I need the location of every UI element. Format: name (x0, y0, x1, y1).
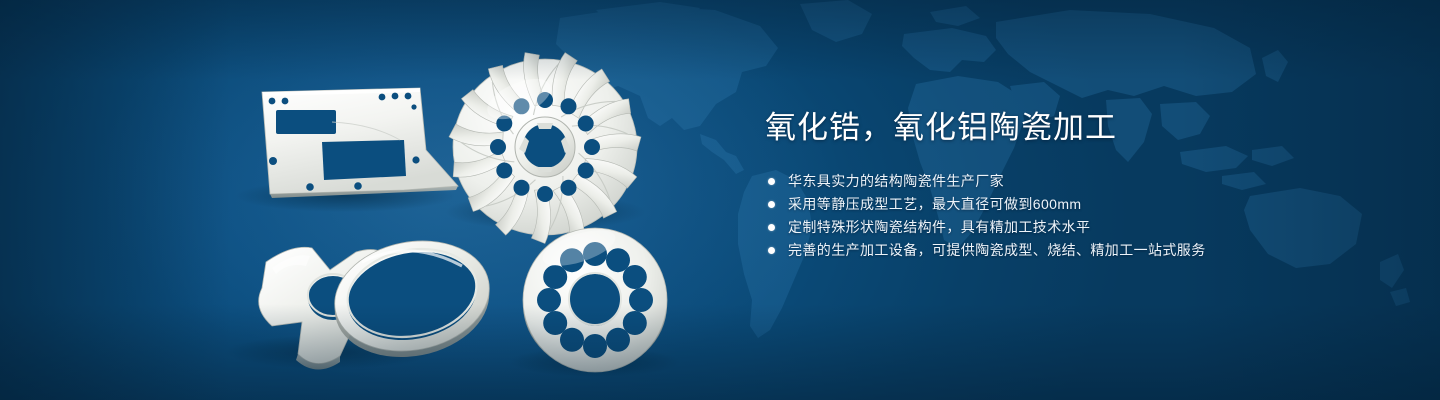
list-item-label: 华东具实力的结构陶瓷件生产厂家 (788, 170, 1004, 193)
list-item-label: 采用等静压成型工艺，最大直径可做到600mm (788, 193, 1081, 216)
hero-banner: 氧化锆，氧化铝陶瓷加工 华东具实力的结构陶瓷件生产厂家 采用等静压成型工艺，最大… (0, 0, 1440, 400)
bullet-dot-icon (768, 178, 775, 185)
bullet-dot-icon (768, 201, 775, 208)
page-title: 氧化锆，氧化铝陶瓷加工 (765, 108, 1385, 148)
list-item-label: 定制特殊形状陶瓷结构件，具有精加工技术水平 (788, 216, 1090, 239)
list-item: 采用等静压成型工艺，最大直径可做到600mm (765, 193, 1385, 216)
banner-copy: 氧化锆，氧化铝陶瓷加工 华东具实力的结构陶瓷件生产厂家 采用等静压成型工艺，最大… (765, 108, 1385, 262)
list-item: 华东具实力的结构陶瓷件生产厂家 (765, 170, 1385, 193)
list-item-label: 完善的生产加工设备，可提供陶瓷成型、烧结、精加工一站式服务 (788, 239, 1206, 262)
bullet-dot-icon (768, 224, 775, 231)
list-item: 完善的生产加工设备，可提供陶瓷成型、烧结、精加工一站式服务 (765, 239, 1385, 262)
bullet-dot-icon (768, 247, 775, 254)
list-item: 定制特殊形状陶瓷结构件，具有精加工技术水平 (765, 216, 1385, 239)
feature-list: 华东具实力的结构陶瓷件生产厂家 采用等静压成型工艺，最大直径可做到600mm 定… (765, 170, 1385, 262)
